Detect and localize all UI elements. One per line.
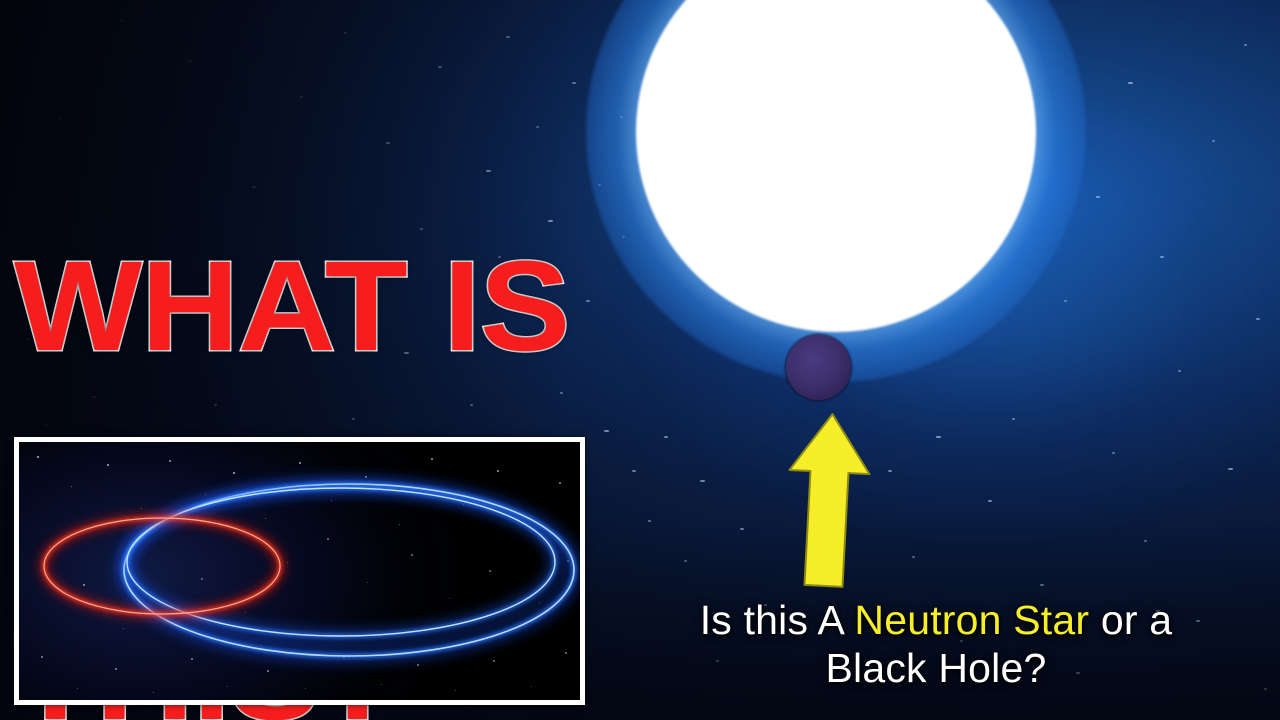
caption: Is this A Neutron Star or a Black Hole?	[600, 596, 1272, 693]
caption-part-2: or a	[1089, 597, 1172, 643]
caption-line-2: Black Hole?	[600, 644, 1272, 692]
orbit-diagram	[19, 442, 580, 700]
inset-panel	[14, 437, 585, 705]
inset-canvas	[19, 442, 580, 700]
caption-part-1: Is this A	[700, 597, 855, 643]
caption-highlight: Neutron Star	[854, 597, 1089, 643]
thumbnail-canvas: WHAT IS THIS? Is this A Neutron Star or …	[0, 0, 1280, 720]
caption-line-1: Is this A Neutron Star or a	[600, 596, 1272, 644]
pointer-arrow-icon	[781, 410, 874, 590]
headline-line-1: WHAT IS	[14, 247, 608, 367]
compact-object	[786, 335, 851, 400]
